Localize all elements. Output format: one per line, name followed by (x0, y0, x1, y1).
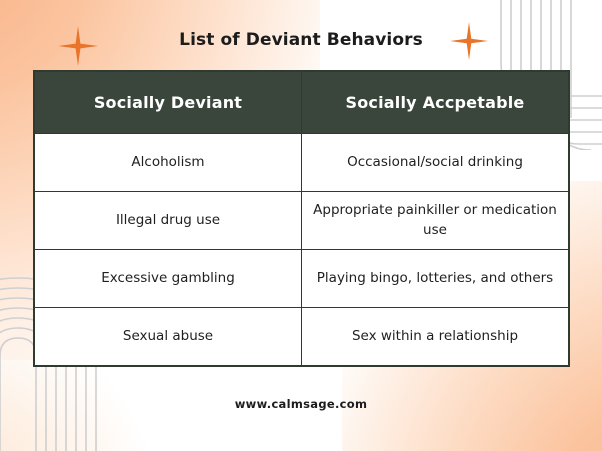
table-header-row: Socially Deviant Socially Accpetable (35, 72, 569, 134)
column-header-socially-acceptable: Socially Accpetable (302, 72, 569, 134)
table-row: Alcoholism Occasional/social drinking (35, 134, 569, 192)
page-title: List of Deviant Behaviors (0, 30, 602, 50)
cell-deviant: Alcoholism (35, 134, 302, 192)
footer-website: www.calmsage.com (0, 397, 602, 411)
table-row: Sexual abuse Sex within a relationship (35, 308, 569, 366)
cell-acceptable: Appropriate painkiller or medication use (302, 192, 569, 250)
deviant-behaviors-table: Socially Deviant Socially Accpetable Alc… (33, 70, 570, 367)
cell-acceptable: Sex within a relationship (302, 308, 569, 366)
column-header-socially-deviant: Socially Deviant (35, 72, 302, 134)
cell-deviant: Illegal drug use (35, 192, 302, 250)
poster-canvas: List of Deviant Behaviors Socially Devia… (0, 0, 602, 451)
table-row: Excessive gambling Playing bingo, lotter… (35, 250, 569, 308)
table-row: Illegal drug use Appropriate painkiller … (35, 192, 569, 250)
cell-acceptable: Occasional/social drinking (302, 134, 569, 192)
cell-deviant: Excessive gambling (35, 250, 302, 308)
cell-acceptable: Playing bingo, lotteries, and others (302, 250, 569, 308)
cell-deviant: Sexual abuse (35, 308, 302, 366)
